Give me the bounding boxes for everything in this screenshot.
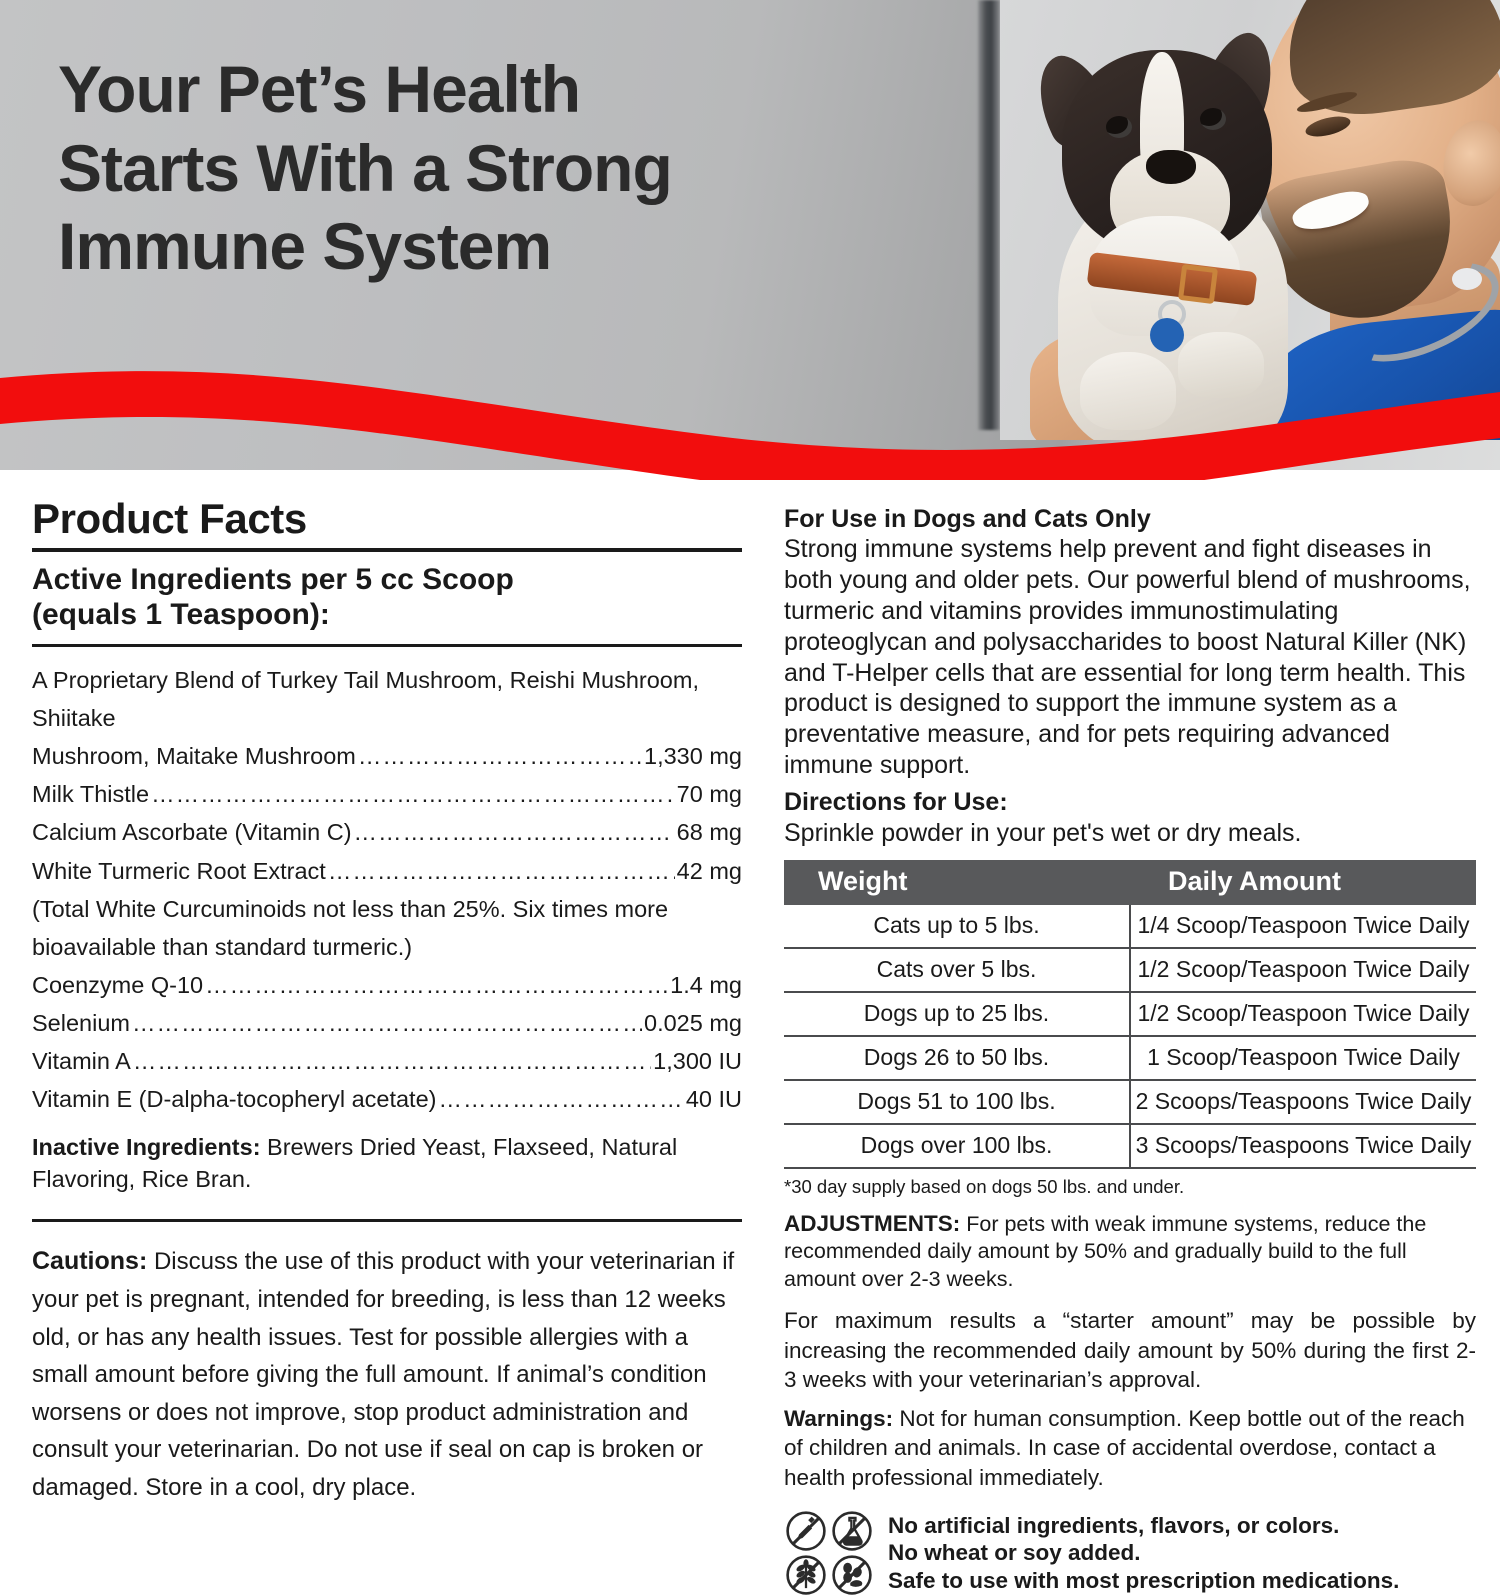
column-header-daily-amount: Daily Amount	[1130, 860, 1476, 905]
dog-id-tag	[1150, 318, 1184, 352]
ingredient-row: Coenzyme Q-10 ………………………………………………………………………	[32, 966, 742, 1004]
divider-above-cautions	[32, 1219, 742, 1222]
ingredient-name: Calcium Ascorbate (Vitamin C)	[32, 813, 352, 851]
ingredient-name: Coenzyme Q-10	[32, 966, 203, 1004]
inactive-ingredients-label: Inactive Ingredients:	[32, 1134, 261, 1160]
left-column: Product Facts Active Ingredients per 5 c…	[32, 498, 742, 1506]
cell-weight: Dogs 26 to 50 lbs.	[784, 1036, 1130, 1080]
ingredient-row: Calcium Ascorbate (Vitamin C) ……………………………	[32, 813, 742, 851]
cell-amount: 1 Scoop/Teaspoon Twice Daily	[1130, 1036, 1476, 1080]
no-wheat-icon	[784, 1554, 828, 1596]
leader-dots: ……………………………………………………………………………………………………………	[132, 1004, 642, 1042]
ingredient-row: White Turmeric Root Extract …………………………………	[32, 852, 742, 890]
ingredient-amount: 42 mg	[677, 852, 742, 890]
leader-dots: ……………………………………………………………………………………………………………	[133, 1042, 651, 1080]
ingredient-name: Mushroom, Maitake Mushroom	[32, 737, 356, 775]
warnings-label: Warnings:	[784, 1406, 893, 1431]
table-header-row: Weight Daily Amount	[784, 860, 1476, 905]
table-row: Dogs 26 to 50 lbs. 1 Scoop/Teaspoon Twic…	[784, 1036, 1476, 1080]
leader-dots: ……………………………………………………………………………………………………………	[354, 813, 675, 851]
ingredient-row: Vitamin A …………………………………………………………………………………	[32, 1042, 742, 1080]
dog-right-eye	[1200, 108, 1226, 130]
leader-dots: ……………………………………………………………………………………………………………	[438, 1080, 683, 1118]
column-header-weight: Weight	[784, 860, 1130, 905]
table-row: Dogs up to 25 lbs. 1/2 Scoop/Teaspoon Tw…	[784, 992, 1476, 1036]
for-use-body: Strong immune systems help prevent and f…	[784, 534, 1476, 781]
claim-line-1: No artificial ingredients, flavors, or c…	[888, 1512, 1399, 1539]
leader-dots: ……………………………………………………………………………………………………………	[328, 852, 675, 890]
divider-under-active-heading	[32, 644, 742, 647]
right-column: For Use in Dogs and Cats Only Strong imm…	[784, 504, 1476, 1596]
ingredient-row: Selenium ……………………………………………………………………………………	[32, 1004, 742, 1042]
label-body: Product Facts Active Ingredients per 5 c…	[0, 470, 1500, 1439]
cell-amount: 1/4 Scoop/Teaspoon Twice Daily	[1130, 905, 1476, 948]
claims-block: No artificial ingredients, flavors, or c…	[784, 1510, 1476, 1596]
cell-weight: Cats up to 5 lbs.	[784, 905, 1130, 948]
cell-amount: 1/2 Scoop/Teaspoon Twice Daily	[1130, 948, 1476, 992]
no-flask-icon	[830, 1510, 874, 1552]
ingredient-row: Vitamin E (D-alpha-tocopheryl acetate) ……	[32, 1080, 742, 1118]
cell-weight: Cats over 5 lbs.	[784, 948, 1130, 992]
dog-left-eye	[1106, 116, 1132, 138]
claim-line-3: Safe to use with most prescription medic…	[888, 1567, 1399, 1594]
cautions-block: Cautions: Discuss the use of this produc…	[32, 1242, 742, 1506]
blend-line-1: A Proprietary Blend of Turkey Tail Mushr…	[32, 661, 742, 737]
divider-under-title	[32, 548, 742, 552]
dosage-table: Weight Daily Amount Cats up to 5 lbs. 1/…	[784, 860, 1476, 1169]
leader-dots: ……………………………………………………………………………………………………………	[205, 966, 668, 1004]
ingredient-amount: 1,330 mg	[644, 737, 742, 775]
directions-subtext: Sprinkle powder in your pet's wet or dry…	[784, 818, 1476, 849]
stethoscope-earpiece	[1452, 268, 1482, 290]
ingredient-name: White Turmeric Root Extract	[32, 852, 326, 890]
table-row: Dogs 51 to 100 lbs. 2 Scoops/Teaspoons T…	[784, 1080, 1476, 1124]
ingredient-amount: 1.4 mg	[670, 966, 742, 1004]
directions-heading: Directions for Use:	[784, 787, 1476, 818]
leader-dots: ……………………………………………………………………………………………………………	[151, 775, 675, 813]
dog-collar-buckle	[1178, 264, 1218, 304]
inactive-ingredients-block: Inactive Ingredients: Brewers Dried Yeas…	[32, 1132, 742, 1195]
table-row: Dogs over 100 lbs. 3 Scoops/Teaspoons Tw…	[784, 1124, 1476, 1168]
ingredient-name: Vitamin E (D-alpha-tocopheryl acetate)	[32, 1080, 436, 1118]
table-row: Cats over 5 lbs. 1/2 Scoop/Teaspoon Twic…	[784, 948, 1476, 992]
headline-line-3: Immune System	[58, 207, 958, 286]
turmeric-note-line-2: bioavailable than standard turmeric.)	[32, 928, 742, 966]
cautions-text: Discuss the use of this product with you…	[32, 1248, 734, 1500]
cell-weight: Dogs up to 25 lbs.	[784, 992, 1130, 1036]
ingredient-amount: 40 IU	[686, 1080, 742, 1118]
cautions-label: Cautions:	[32, 1247, 147, 1275]
ingredient-name: Selenium	[32, 1004, 130, 1042]
ingredient-amount: 68 mg	[677, 813, 742, 851]
ingredient-name: Vitamin A	[32, 1042, 131, 1080]
ingredient-amount: 70 mg	[677, 775, 742, 813]
adjustments-label: ADJUSTMENTS:	[784, 1211, 960, 1236]
active-ingredients-heading-line1: Active Ingredients per 5 cc Scoop	[32, 562, 742, 597]
product-facts-title: Product Facts	[32, 498, 742, 540]
cell-amount: 3 Scoops/Teaspoons Twice Daily	[1130, 1124, 1476, 1168]
ingredient-name: Milk Thistle	[32, 775, 149, 813]
claim-line-2: No wheat or soy added.	[888, 1539, 1399, 1566]
no-pills-icon	[830, 1554, 874, 1596]
claim-icons-grid	[784, 1510, 874, 1596]
red-wave-divider	[0, 360, 1500, 480]
turmeric-note-line-1: (Total White Curcuminoids not less than …	[32, 890, 742, 928]
no-dropper-icon	[784, 1510, 828, 1552]
max-results-text: For maximum results a “starter amount” m…	[784, 1306, 1476, 1394]
cell-amount: 1/2 Scoop/Teaspoon Twice Daily	[1130, 992, 1476, 1036]
ingredient-amount: 0.025 mg	[644, 1004, 742, 1042]
headline-line-1: Your Pet’s Health	[58, 50, 958, 129]
ingredient-row: Milk Thistle …………………………………………………………………………	[32, 775, 742, 813]
cell-weight: Dogs 51 to 100 lbs.	[784, 1080, 1130, 1124]
leader-dots: ……………………………………………………………………………………………………………	[358, 737, 642, 775]
cell-amount: 2 Scoops/Teaspoons Twice Daily	[1130, 1080, 1476, 1124]
cell-weight: Dogs over 100 lbs.	[784, 1124, 1130, 1168]
for-use-heading: For Use in Dogs and Cats Only	[784, 504, 1476, 534]
headline-block: Your Pet’s Health Starts With a Strong I…	[58, 50, 958, 286]
active-ingredients-heading-line2: (equals 1 Teaspoon):	[32, 597, 742, 632]
headline-line-2: Starts With a Strong	[58, 129, 958, 208]
table-row: Cats up to 5 lbs. 1/4 Scoop/Teaspoon Twi…	[784, 905, 1476, 948]
adjustments-block: ADJUSTMENTS: For pets with weak immune s…	[784, 1209, 1476, 1295]
blend-line-2: Mushroom, Maitake Mushroom ……………………………………	[32, 737, 742, 775]
dog-nose	[1146, 150, 1196, 184]
ingredient-amount: 1,300 IU	[653, 1042, 742, 1080]
warnings-block: Warnings: Not for human consumption. Kee…	[784, 1404, 1476, 1492]
supply-footnote: *30 day supply based on dogs 50 lbs. and…	[784, 1175, 1476, 1199]
claims-text: No artificial ingredients, flavors, or c…	[888, 1512, 1399, 1594]
active-ingredients-list: A Proprietary Blend of Turkey Tail Mushr…	[32, 661, 742, 1118]
